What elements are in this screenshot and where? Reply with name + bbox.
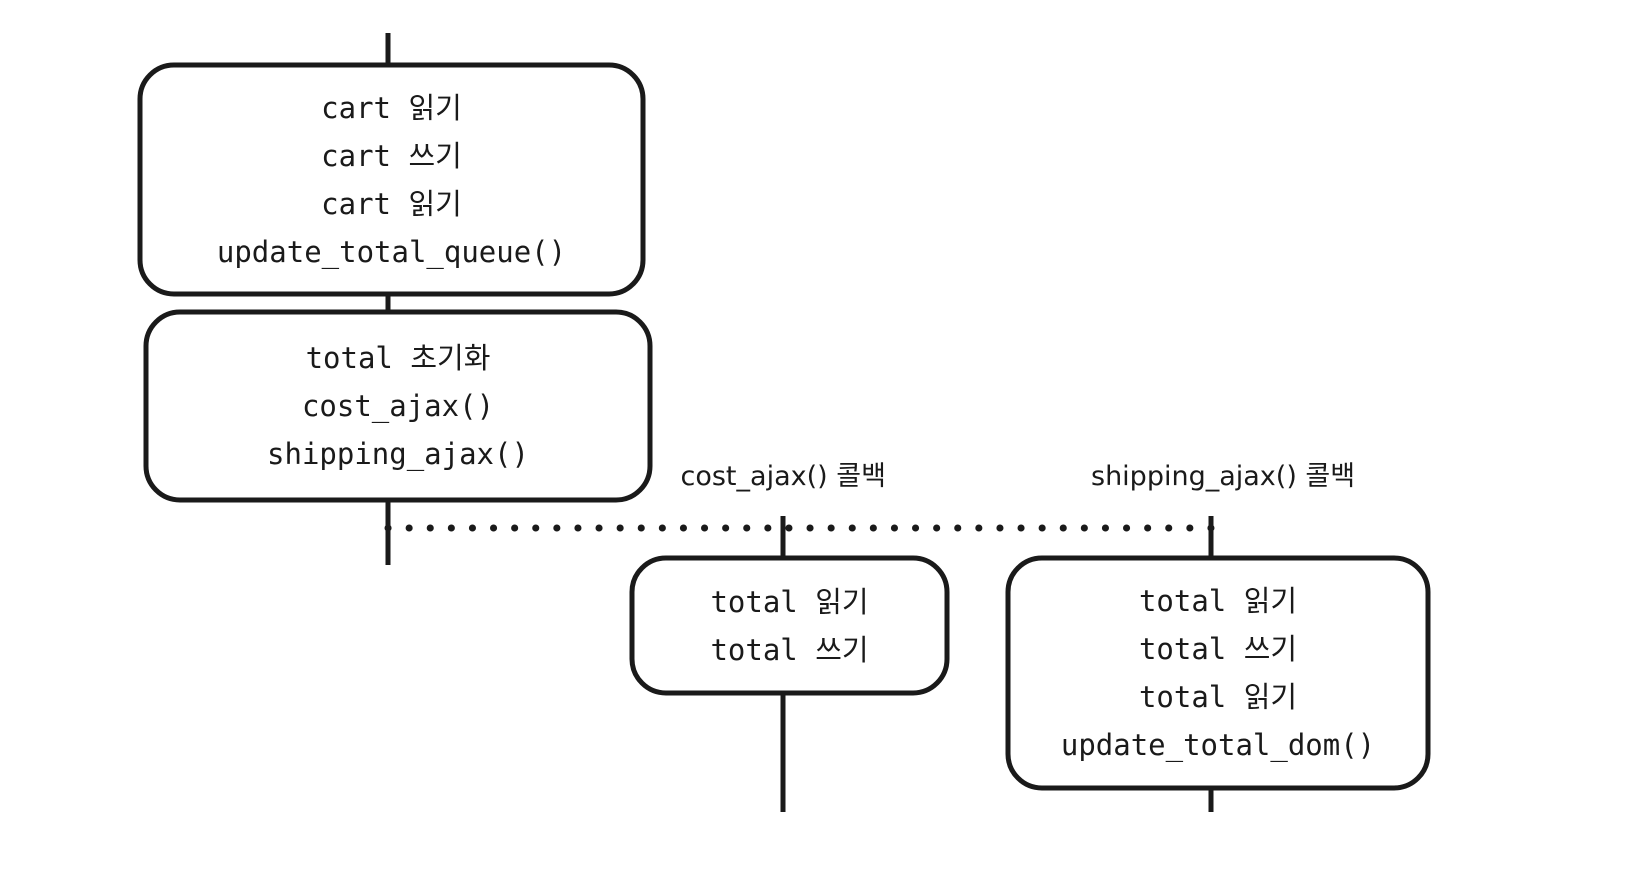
diagram-svg <box>0 0 1626 884</box>
cost-callback-node-shape <box>632 558 947 693</box>
shipping-callback-node-shape <box>1008 558 1428 788</box>
total-init-node-shape <box>146 312 650 500</box>
cart-queue-node-shape <box>140 65 643 294</box>
node-shapes-layer <box>140 65 1428 788</box>
label-shipping-ajax-callback: shipping_ajax() 콜백 <box>1091 454 1355 493</box>
diagram-canvas: cart 읽기cart 쓰기cart 읽기update_total_queue(… <box>0 0 1626 884</box>
label-cost-ajax-callback: cost_ajax() 콜백 <box>681 454 886 493</box>
